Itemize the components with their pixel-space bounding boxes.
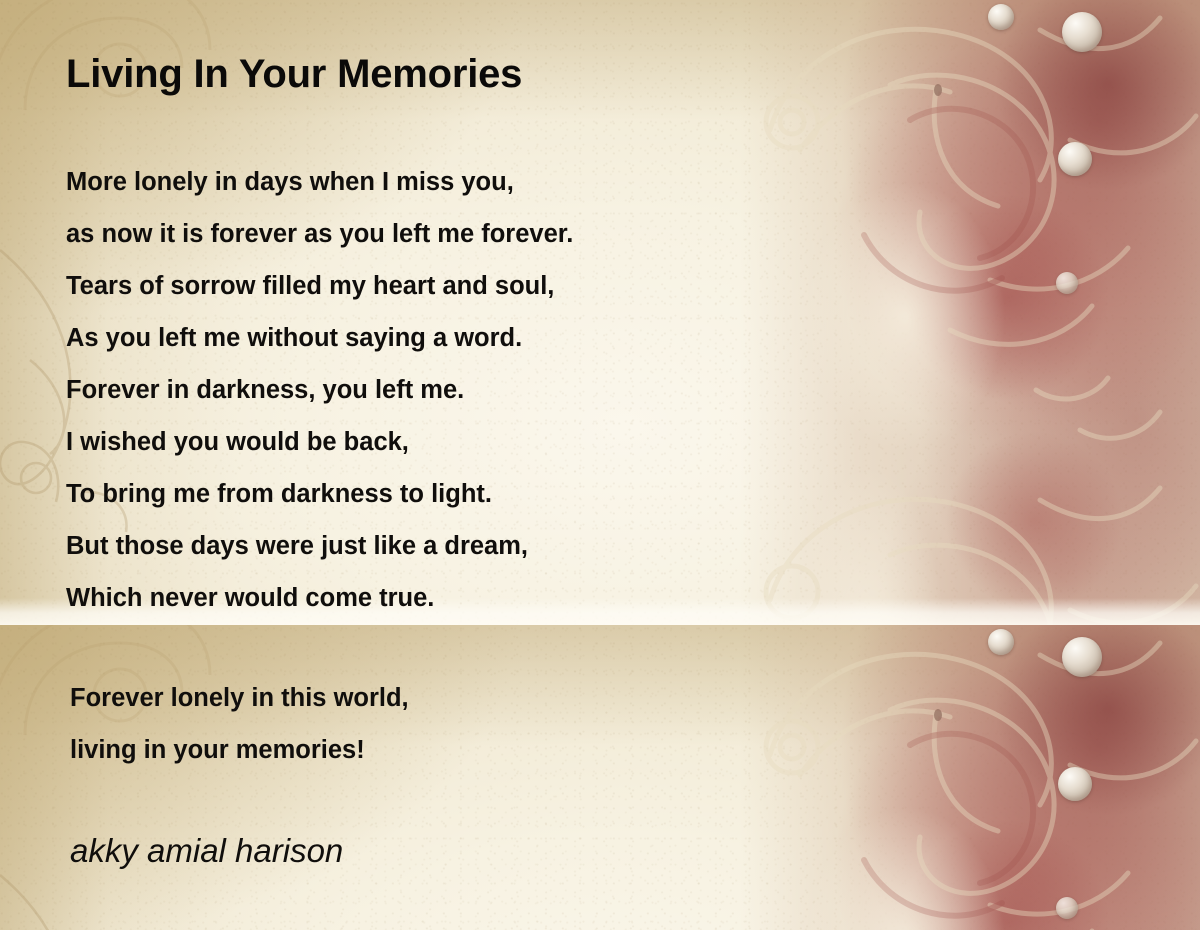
poem-line: as now it is forever as you left me fore…: [66, 208, 846, 260]
poem-line: To bring me from darkness to light.: [66, 468, 846, 520]
poem-line: Forever in darkness, you left me.: [66, 364, 846, 416]
poem-line: Tears of sorrow filled my heart and soul…: [66, 260, 846, 312]
poem-author-signature: akky amial harison: [70, 832, 343, 870]
poem-line: As you left me without saying a word.: [66, 312, 846, 364]
poem-line: Forever lonely in this world,: [70, 672, 770, 724]
poem-stanza-first: More lonely in days when I miss you, as …: [66, 156, 846, 624]
poem-line: More lonely in days when I miss you,: [66, 156, 846, 208]
poem-text-layer: Living In Your Memories More lonely in d…: [0, 0, 1200, 930]
poem-line: Which never would come true.: [66, 572, 846, 624]
poem-line: But those days were just like a dream,: [66, 520, 846, 572]
poem-line: I wished you would be back,: [66, 416, 846, 468]
page-title: Living In Your Memories: [66, 52, 522, 97]
poem-stanza-second: Forever lonely in this world, living in …: [70, 672, 770, 776]
poem-card: Living In Your Memories More lonely in d…: [0, 0, 1200, 930]
poem-line: living in your memories!: [70, 724, 770, 776]
